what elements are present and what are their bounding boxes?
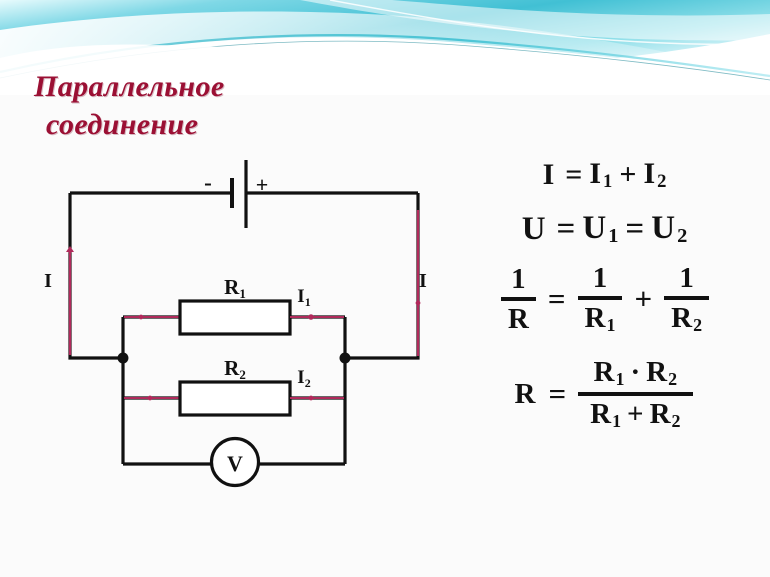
current-marker-left xyxy=(68,249,72,253)
label-branch-current-2: I2 xyxy=(297,367,310,390)
wire-left-outer xyxy=(70,193,123,358)
eq4-equals: = xyxy=(539,376,575,412)
current-marker-r1-right xyxy=(308,314,314,320)
label-current-right: I xyxy=(419,270,427,292)
formula-equivalent-resistance: R = R1·R2 R1+R2 xyxy=(455,348,755,440)
eq3-plus: + xyxy=(625,281,661,317)
formula-voltage-equal: U = U1 = U2 xyxy=(455,202,755,256)
eq1-term1: I1 xyxy=(589,157,613,193)
voltmeter-label: V xyxy=(227,451,243,476)
eq3-den-2: R1 xyxy=(578,302,623,336)
eq3-bar-1 xyxy=(501,297,536,301)
eq3-num-1: 1 xyxy=(504,263,533,295)
battery-negative-label: - xyxy=(204,170,212,195)
eq3-fraction-2: 1 R1 xyxy=(578,262,623,336)
eq3-bar-2 xyxy=(578,296,623,300)
eq2-equals-2: = xyxy=(619,211,651,248)
label-current-left: I xyxy=(44,270,52,292)
eq3-equals: = xyxy=(539,281,575,317)
battery-positive-label: + xyxy=(256,172,269,197)
formula-panel: I = I1 + I2 U = U1 = U2 1 R = 1 R1 xyxy=(455,148,755,440)
formula-current-sum: I = I1 + I2 xyxy=(455,148,755,202)
eq3-bar-3 xyxy=(664,296,709,300)
eq1-plus: + xyxy=(613,158,643,192)
junction-node-right xyxy=(340,353,351,364)
eq3-den-1: R xyxy=(501,303,536,335)
formula-resistance-reciprocal: 1 R = 1 R1 + 1 R2 xyxy=(455,256,755,342)
eq3-fraction-1: 1 R xyxy=(501,263,536,336)
eq2-equals-1: = xyxy=(551,211,583,248)
eq2-lhs: U xyxy=(522,211,551,248)
current-marker-r2-right xyxy=(309,396,314,401)
current-marker-r1-left xyxy=(139,315,144,320)
eq2-term2: U2 xyxy=(651,210,688,249)
current-marker-r2-left xyxy=(148,396,153,401)
eq1-lhs: I xyxy=(543,158,560,192)
label-resistor-2: R2 xyxy=(224,356,246,382)
label-branch-current-1: I1 xyxy=(297,286,310,309)
junction-node-left xyxy=(118,353,129,364)
eq3-num-2: 1 xyxy=(586,262,615,294)
circuit-diagram: V - + I I R1 R2 I1 I2 xyxy=(0,0,460,520)
eq3-num-3: 1 xyxy=(672,262,701,294)
resistor-2-body xyxy=(180,382,290,415)
eq4-numerator: R1·R2 xyxy=(582,356,690,390)
wire-right-outer xyxy=(345,193,418,358)
eq1-term2: I2 xyxy=(643,157,667,193)
eq1-equals: = xyxy=(559,158,589,192)
eq4-denominator: R1+R2 xyxy=(578,398,692,432)
resistor-1-body xyxy=(180,301,290,334)
eq3-fraction-3: 1 R2 xyxy=(664,262,709,336)
eq4-bar xyxy=(578,392,692,396)
eq4-lhs: R xyxy=(514,378,539,411)
label-resistor-1: R1 xyxy=(224,275,246,301)
slide-canvas: Параллельное соединение xyxy=(0,0,770,577)
current-marker-right xyxy=(416,301,421,306)
eq2-term1: U1 xyxy=(582,210,619,249)
eq3-den-3: R2 xyxy=(664,302,709,336)
eq4-fraction: R1·R2 R1+R2 xyxy=(578,356,692,432)
